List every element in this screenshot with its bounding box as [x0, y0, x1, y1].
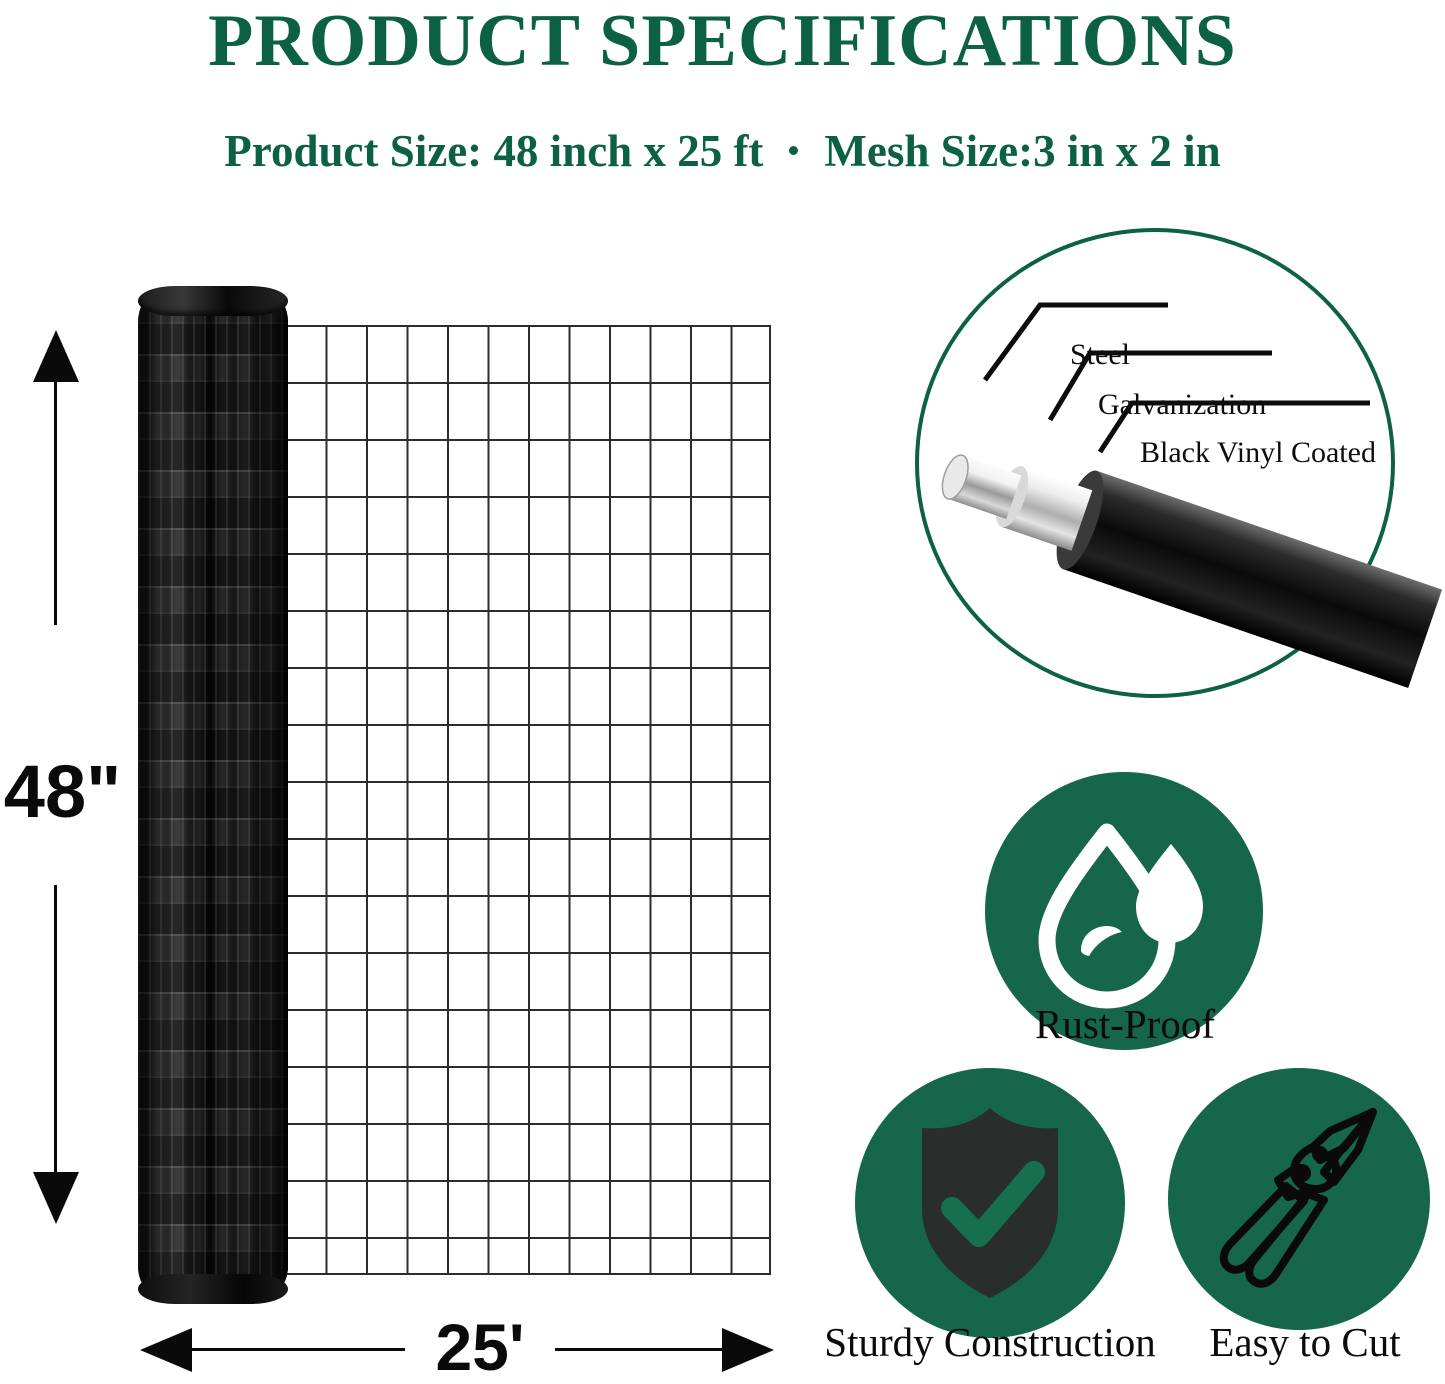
roll-shading [138, 296, 288, 1292]
shield-check-icon [855, 1068, 1125, 1338]
callout-label-steel: Steel [1070, 338, 1130, 372]
roll-bottom-cap [138, 1274, 288, 1304]
wire-mesh-panel [285, 325, 771, 1273]
dimension-arrow-right-icon [722, 1328, 774, 1372]
product-size-text: Product Size: 48 inch x 25 ft [224, 125, 763, 177]
dimension-arrow-down-icon [33, 1172, 79, 1224]
mesh-bottom-edge [285, 1273, 771, 1275]
height-dimension-label: 48" [0, 752, 125, 832]
pliers-icon [1168, 1068, 1430, 1330]
feature-label-rust-proof: Rust-Proof [960, 1000, 1290, 1048]
callout-label-galvanization: Galvanization [1098, 388, 1266, 422]
mesh-right-edge [769, 325, 771, 1275]
dimension-line-horizontal-left [190, 1348, 405, 1351]
feature-badge-sturdy-construction [855, 1068, 1125, 1338]
callout-label-black-vinyl-coated: Black Vinyl Coated [1140, 436, 1376, 470]
feature-badge-easy-to-cut [1168, 1068, 1430, 1330]
width-dimension-label: 25' [405, 1310, 555, 1384]
page-title: PRODUCT SPECIFICATIONS [0, 2, 1445, 80]
dimension-arrow-left-icon [140, 1328, 192, 1372]
infographic-canvas: PRODUCT SPECIFICATIONS Product Size: 48 … [0, 0, 1445, 1384]
separator-dot-icon [789, 146, 798, 155]
dimension-line-vertical-top [54, 340, 57, 625]
dimension-line-vertical-bottom [54, 885, 57, 1190]
mesh-size-text: Mesh Size:3 in x 2 in [824, 125, 1220, 177]
roll-top-cap [138, 286, 288, 316]
feature-label-sturdy-construction: Sturdy Construction [790, 1318, 1190, 1366]
spec-subtitle: Product Size: 48 inch x 25 ftMesh Size:3… [0, 120, 1445, 177]
dimension-line-horizontal-right [555, 1348, 727, 1351]
feature-label-easy-to-cut: Easy to Cut [1185, 1318, 1425, 1366]
fence-roll-image [138, 296, 288, 1292]
